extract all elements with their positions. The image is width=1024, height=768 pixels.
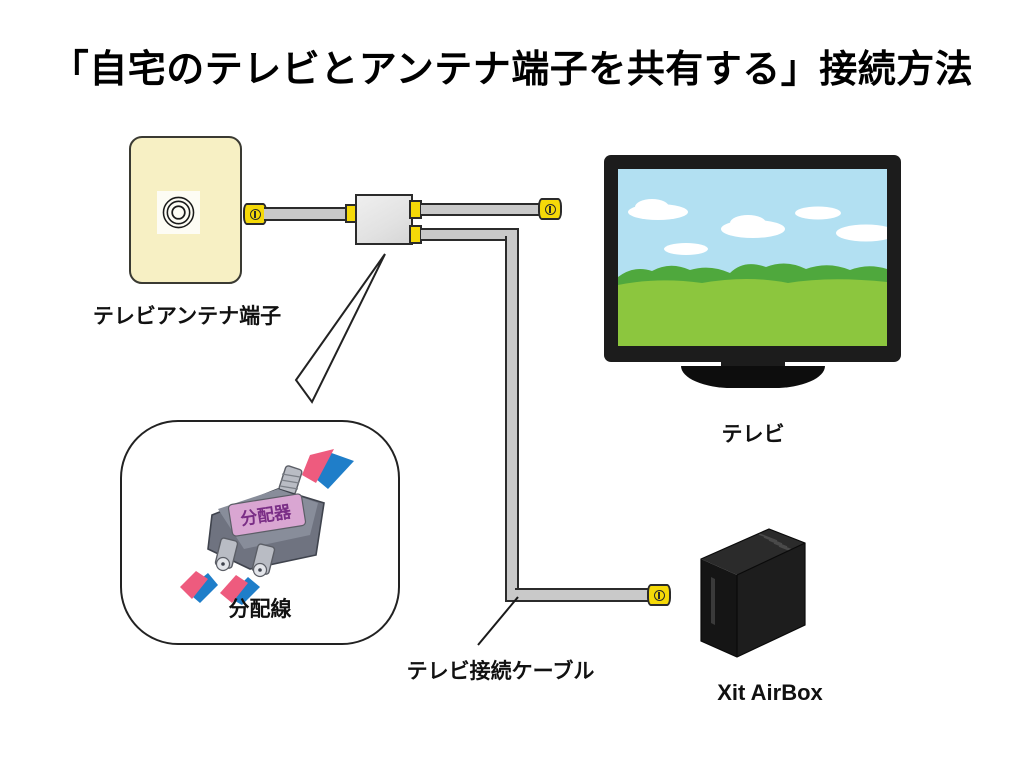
antenna-wall-plate <box>129 136 242 284</box>
cable-to-airbox-horizontal <box>515 588 651 602</box>
leader-line-tv-cable <box>470 595 530 650</box>
cable-plug-tv-end <box>538 198 562 220</box>
cable-airbox-vertical <box>505 236 519 595</box>
coax-socket-icon <box>162 196 195 229</box>
label-airbox: Xit AirBox <box>680 680 860 706</box>
television <box>604 155 901 362</box>
tv-screen-image <box>618 169 887 346</box>
cable-splitter-to-tv <box>421 203 543 216</box>
antenna-socket-inset <box>157 191 200 234</box>
arrow-in <box>302 449 354 489</box>
label-tv: テレビ <box>678 418 828 448</box>
plug-pin <box>545 204 556 215</box>
splitter-illustration: 分配器 <box>178 445 368 605</box>
grass <box>618 279 887 346</box>
label-splitter-line: 分配線 <box>175 593 345 623</box>
callout-pointer <box>290 250 400 435</box>
plug-pin <box>250 209 261 220</box>
cable-antenna-to-splitter <box>264 207 348 221</box>
tv-stand-base <box>681 366 825 388</box>
label-tv-cable: テレビ接続ケーブル <box>378 655 623 685</box>
cable-plug-airbox-end <box>647 584 671 606</box>
tv-screen <box>618 169 887 346</box>
diagram-canvas: 「自宅のテレビとアンテナ端子を共有する」接続方法 テレビアンテナ端子 テレビ <box>0 0 1024 768</box>
plug-pin <box>654 590 665 601</box>
page-title: 「自宅のテレビとアンテナ端子を共有する」接続方法 <box>0 38 1024 93</box>
splitter-device <box>355 194 413 245</box>
label-antenna-terminal: テレビアンテナ端子 <box>62 300 312 330</box>
xit-airbox-device <box>697 525 809 663</box>
